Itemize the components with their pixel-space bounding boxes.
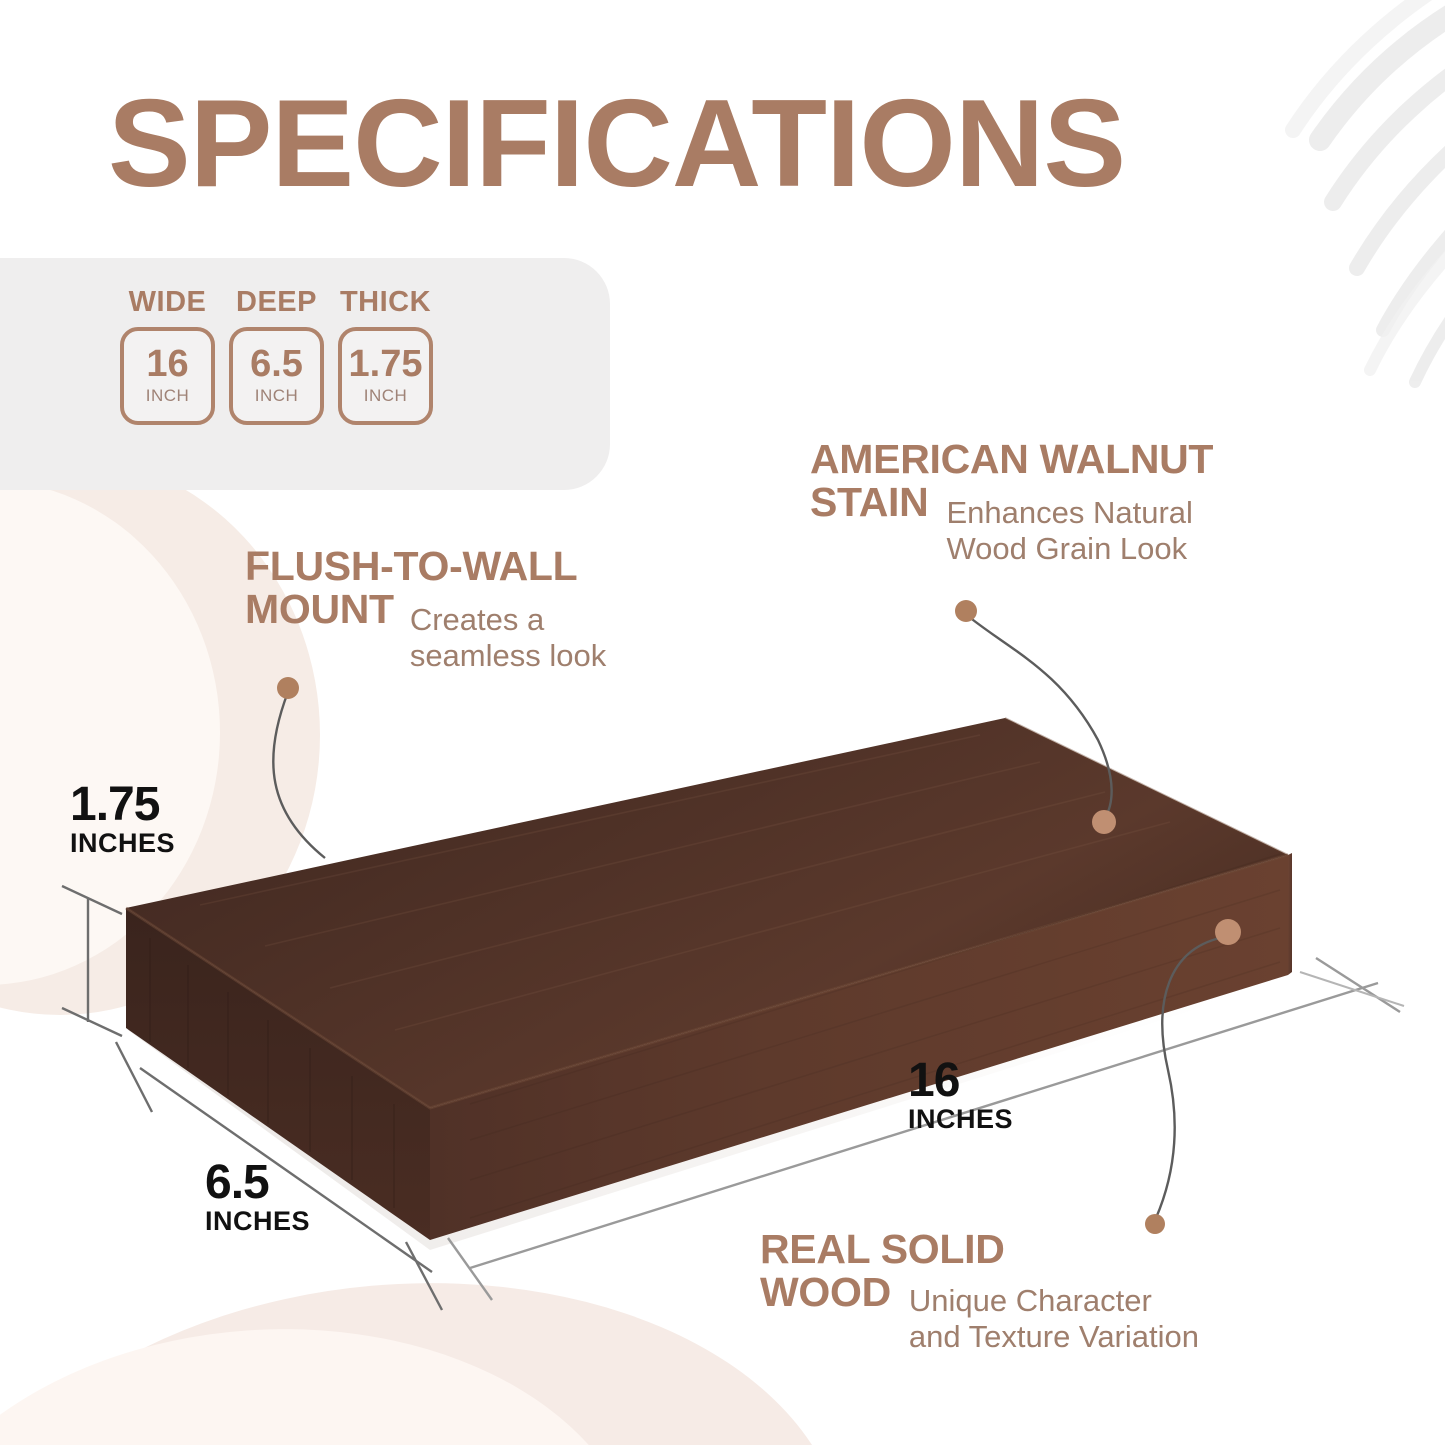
callout-subtitle-wood: Unique Character and Texture Variation: [909, 1271, 1199, 1355]
dimension-unit-width: INCHES: [908, 1106, 1013, 1133]
dimension-label-width: 16 INCHES: [908, 1058, 1013, 1133]
specifications-infographic: SPECIFICATIONS WIDE 16 INCH DEEP 6.5 INC…: [0, 0, 1445, 1445]
callout-subtitle-stain-line1: Enhances Natural: [946, 495, 1192, 530]
callout-subtitle-wood-line1: Unique Character: [909, 1283, 1152, 1318]
callout-title-flush-line2: MOUNT: [245, 588, 394, 631]
callout-title-stain-line1: AMERICAN WALNUT: [810, 438, 1410, 481]
dimension-line-width-helper: [1300, 972, 1404, 1006]
dimension-unit-depth: INCHES: [205, 1208, 310, 1235]
callout-subtitle-flush-line2: seamless look: [410, 638, 606, 673]
callout-real-solid-wood: REAL SOLID WOOD Unique Character and Tex…: [760, 1228, 1380, 1355]
dimension-line-thickness: [62, 886, 122, 1036]
callout-title-flush-line1: FLUSH-TO-WALL: [245, 545, 745, 588]
callout-subtitle-flush: Creates a seamless look: [410, 588, 606, 674]
dimension-value-thickness: 1.75: [70, 782, 175, 828]
dimension-label-thickness: 1.75 INCHES: [70, 782, 175, 857]
dimension-value-width: 16: [908, 1058, 1013, 1104]
callout-leader-flush-to-wall: [273, 677, 325, 858]
callout-subtitle-stain-line2: Wood Grain Look: [946, 531, 1187, 566]
callout-title-stain-line2: STAIN: [810, 481, 928, 524]
callout-title-wood-line2: WOOD: [760, 1271, 891, 1314]
callout-american-walnut-stain: AMERICAN WALNUT STAIN Enhances Natural W…: [810, 438, 1410, 567]
callout-subtitle-wood-line2: and Texture Variation: [909, 1319, 1199, 1354]
callout-title-wood-line1: REAL SOLID: [760, 1228, 1380, 1271]
dimension-label-depth: 6.5 INCHES: [205, 1160, 310, 1235]
callout-flush-to-wall-mount: FLUSH-TO-WALL MOUNT Creates a seamless l…: [245, 545, 745, 674]
callout-subtitle-stain: Enhances Natural Wood Grain Look: [946, 481, 1192, 567]
dimension-value-depth: 6.5: [205, 1160, 310, 1206]
callout-subtitle-flush-line1: Creates a: [410, 602, 544, 637]
dimension-unit-thickness: INCHES: [70, 830, 175, 857]
